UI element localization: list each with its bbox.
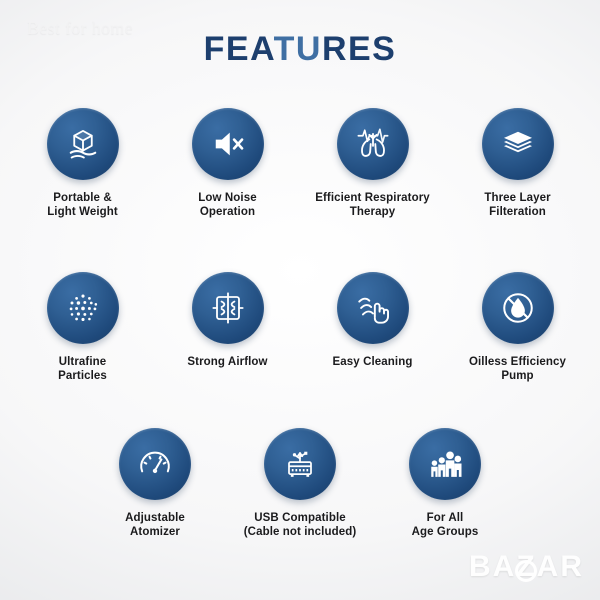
feature-label: Strong Airflow <box>187 355 267 369</box>
feature-row-1: Portable & Light Weight Low Noise Operat… <box>0 108 600 219</box>
feature-label: Low Noise Operation <box>198 191 256 219</box>
page-title-part-1: FEA <box>204 30 274 68</box>
feature-label: Efficient Respiratory Therapy <box>315 191 430 219</box>
gauge-meter-icon <box>133 442 177 486</box>
feature-item: Easy Cleaning <box>300 272 445 383</box>
usb-device-icon <box>278 442 322 486</box>
package-in-hand-icon <box>62 123 104 165</box>
feature-row-2: Ultrafine Particles <box>0 272 600 383</box>
feature-icon-circle <box>192 108 264 180</box>
page-title-part-3: RES <box>322 30 396 68</box>
feature-icon-circle <box>47 108 119 180</box>
airflow-fan-icon <box>206 286 250 330</box>
page-title-part-2: TU <box>274 30 322 68</box>
feature-label: Portable & Light Weight <box>47 191 118 219</box>
feature-item: Oilless Efficiency Pump <box>445 272 590 383</box>
feature-item: Adjustable Atomizer <box>83 428 228 539</box>
feature-item: Strong Airflow <box>155 272 300 383</box>
feature-item: Three Layer Filteration <box>445 108 590 219</box>
stacked-layers-icon <box>497 123 539 165</box>
feature-icon-circle <box>409 428 481 500</box>
feature-icon-circle <box>482 108 554 180</box>
feature-label: For All Age Groups <box>412 511 479 539</box>
feature-label: Ultrafine Particles <box>58 355 107 383</box>
feature-label: Adjustable Atomizer <box>125 511 185 539</box>
feature-item: Portable & Light Weight <box>10 108 155 219</box>
feature-icon-circle <box>47 272 119 344</box>
feature-item: Low Noise Operation <box>155 108 300 219</box>
speaker-mute-icon <box>207 123 249 165</box>
feature-item: For All Age Groups <box>373 428 518 539</box>
page-title: FEATURES <box>0 30 600 69</box>
fine-particles-icon <box>61 286 105 330</box>
feature-icon-circle <box>337 272 409 344</box>
lungs-waveform-icon <box>351 122 395 166</box>
feature-icon-circle <box>119 428 191 500</box>
feature-row-3: Adjustable Atomizer <box>0 428 600 539</box>
feature-icon-circle <box>264 428 336 500</box>
feature-label: Three Layer Filteration <box>484 191 550 219</box>
feature-item: Ultrafine Particles <box>10 272 155 383</box>
watermark-circle-decor <box>515 560 537 582</box>
feature-icon-circle <box>192 272 264 344</box>
feature-icon-circle <box>337 108 409 180</box>
feature-label: Easy Cleaning <box>333 355 413 369</box>
features-infographic: Best for home FEATURES <box>0 0 600 600</box>
feature-item: USB Compatible (Cable not included) <box>228 428 373 539</box>
feature-icon-circle <box>482 272 554 344</box>
feature-item: Efficient Respiratory Therapy <box>300 108 445 219</box>
feature-label: USB Compatible (Cable not included) <box>244 511 357 539</box>
feature-label: Oilless Efficiency Pump <box>469 355 566 383</box>
family-group-icon <box>423 442 467 486</box>
cleaning-hand-icon <box>351 286 395 330</box>
oil-free-droplet-icon <box>496 286 540 330</box>
